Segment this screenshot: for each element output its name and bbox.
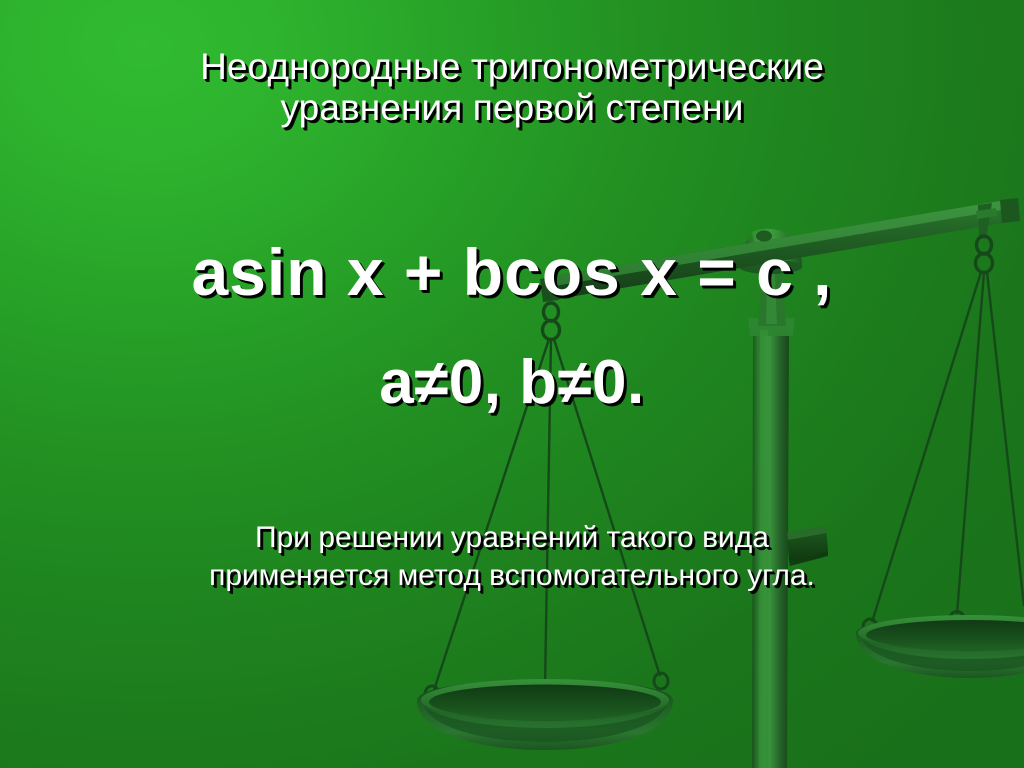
formula-primary: asin x + bcos x = c , <box>0 236 1024 310</box>
central-column <box>748 248 795 768</box>
right-chain-rings <box>863 612 965 636</box>
slide-canvas: Неоднородные тригонометрические уравнени… <box>0 0 1024 768</box>
left-chain-rings <box>425 673 668 702</box>
left-pan <box>417 679 673 750</box>
page-title: Неоднородные тригонометрические уравнени… <box>0 46 1024 129</box>
right-pan <box>856 615 1024 678</box>
explanatory-note: При решении уравнений такого вида примен… <box>0 519 1024 596</box>
formula-conditions: a≠0, b≠0. <box>0 348 1024 417</box>
